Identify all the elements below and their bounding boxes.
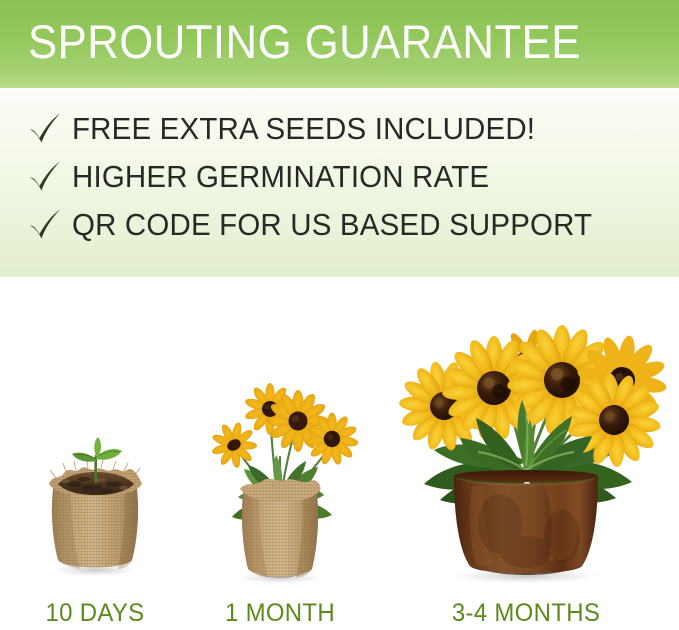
young-sunflowers-in-burlap-sack-image bbox=[192, 353, 368, 588]
benefit-item-free-seeds: FREE EXTRA SEEDS INCLUDED! bbox=[26, 106, 560, 152]
benefit-item-qr-support: QR CODE FOR US BASED SUPPORT bbox=[26, 202, 620, 248]
page-title: SPROUTING GUARANTEE bbox=[28, 14, 623, 70]
check-icon bbox=[26, 158, 64, 196]
stage-label-10-days: 10 DAYS bbox=[10, 598, 181, 628]
benefit-item-germination-rate: HIGHER GERMINATION RATE bbox=[26, 154, 511, 200]
growth-stage-young-plant: 1 MONTH bbox=[192, 310, 368, 630]
benefits-panel: FREE EXTRA SEEDS INCLUDED! HIGHER GERMIN… bbox=[0, 88, 679, 277]
header-banner: SPROUTING GUARANTEE bbox=[0, 0, 679, 88]
stage-label-1-month: 1 MONTH bbox=[196, 598, 365, 628]
benefit-label: QR CODE FOR US BASED SUPPORT bbox=[72, 206, 592, 244]
growth-stage-mature-plant: 3-4 MONTHS bbox=[376, 310, 676, 630]
check-icon bbox=[26, 110, 64, 148]
growth-stage-seedling: 10 DAYS bbox=[6, 310, 184, 630]
stage-label-3-4-months: 3-4 MONTHS bbox=[382, 598, 670, 628]
mature-sunflowers-in-bronze-pot-image bbox=[376, 288, 676, 588]
seedling-in-burlap-sack-image bbox=[6, 410, 184, 588]
benefit-label: FREE EXTRA SEEDS INCLUDED! bbox=[72, 110, 535, 148]
check-icon bbox=[26, 206, 64, 244]
growth-stages-row: 10 DAYS bbox=[0, 277, 679, 630]
benefit-label: HIGHER GERMINATION RATE bbox=[72, 158, 489, 196]
